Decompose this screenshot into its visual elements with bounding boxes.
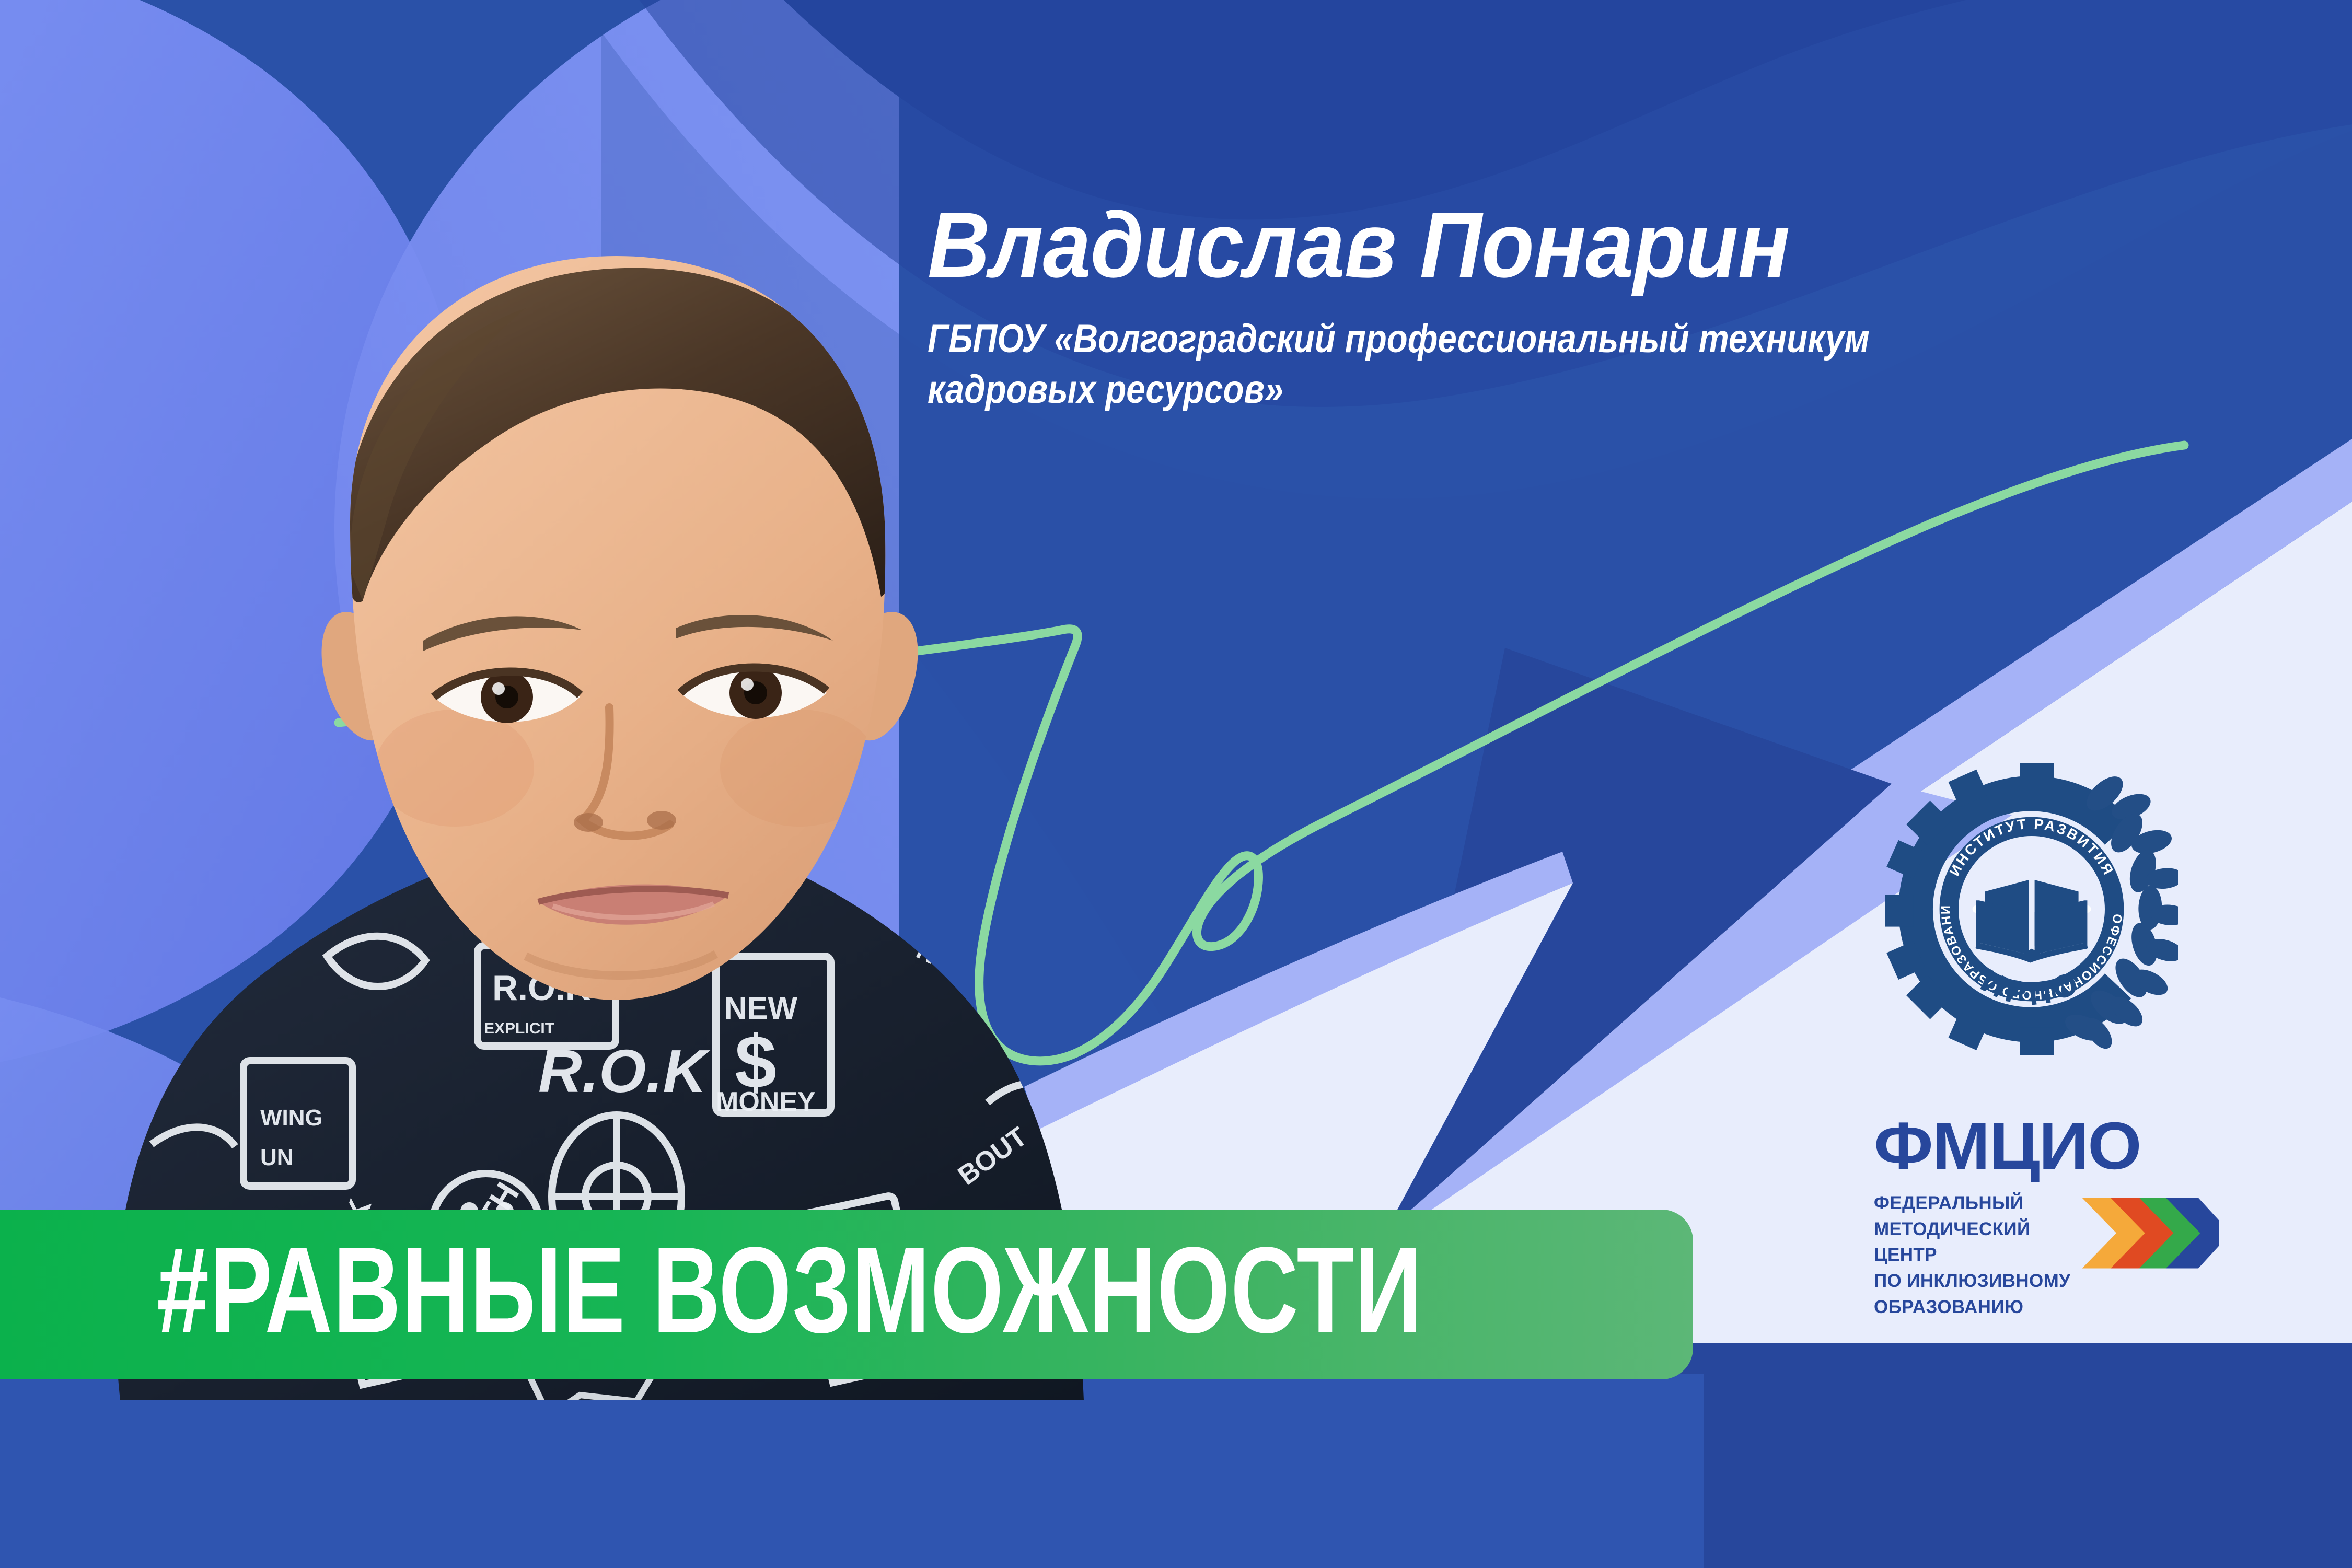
svg-text:R.O.K: R.O.K [538, 1037, 710, 1105]
fmcio-logo: ФМЦИО ФЕДЕРАЛЬНЫЙ МЕТОДИЧЕСКИЙ ЦЕНТР ПО … [1859, 1113, 2225, 1291]
fmcio-subtitle: ФЕДЕРАЛЬНЫЙ МЕТОДИЧЕСКИЙ ЦЕНТР ПО ИНКЛЮЗ… [1874, 1190, 2079, 1320]
svg-text:EXPLICIT: EXPLICIT [484, 1020, 554, 1037]
svg-text:UN: UN [260, 1145, 294, 1170]
fmcio-wordmark: ФМЦИО [1874, 1113, 2239, 1180]
svg-text:WING: WING [260, 1105, 323, 1131]
hashtag-banner: #РАВНЫЕ ВОЗМОЖНОСТИ [0, 1210, 1693, 1379]
bottom-blue-strip-left [0, 1374, 1704, 1568]
person-name: Владислав Понарин [928, 199, 2142, 292]
headline-block: Владислав Понарин ГБПОУ «Волгоградский п… [928, 199, 2234, 415]
organization-name: ГБПОУ «Волгоградский профессиональный те… [928, 313, 1939, 415]
irpo-logo: ИНСТИТУТ РАЗВИТИЯ ПРОФЕССИОНАЛЬНОГО ОБРА… [1885, 763, 2178, 1055]
svg-text:MONEY: MONEY [716, 1087, 816, 1117]
promo-banner: R.O.K NEW $ MONEY R.O.K EXPLICIT WING UN… [0, 0, 2352, 1568]
hashtag-label: #РАВНЫЕ ВОЗМОЖНОСТИ [157, 1229, 1423, 1351]
chevron-arrows-icon [2079, 1191, 2222, 1275]
